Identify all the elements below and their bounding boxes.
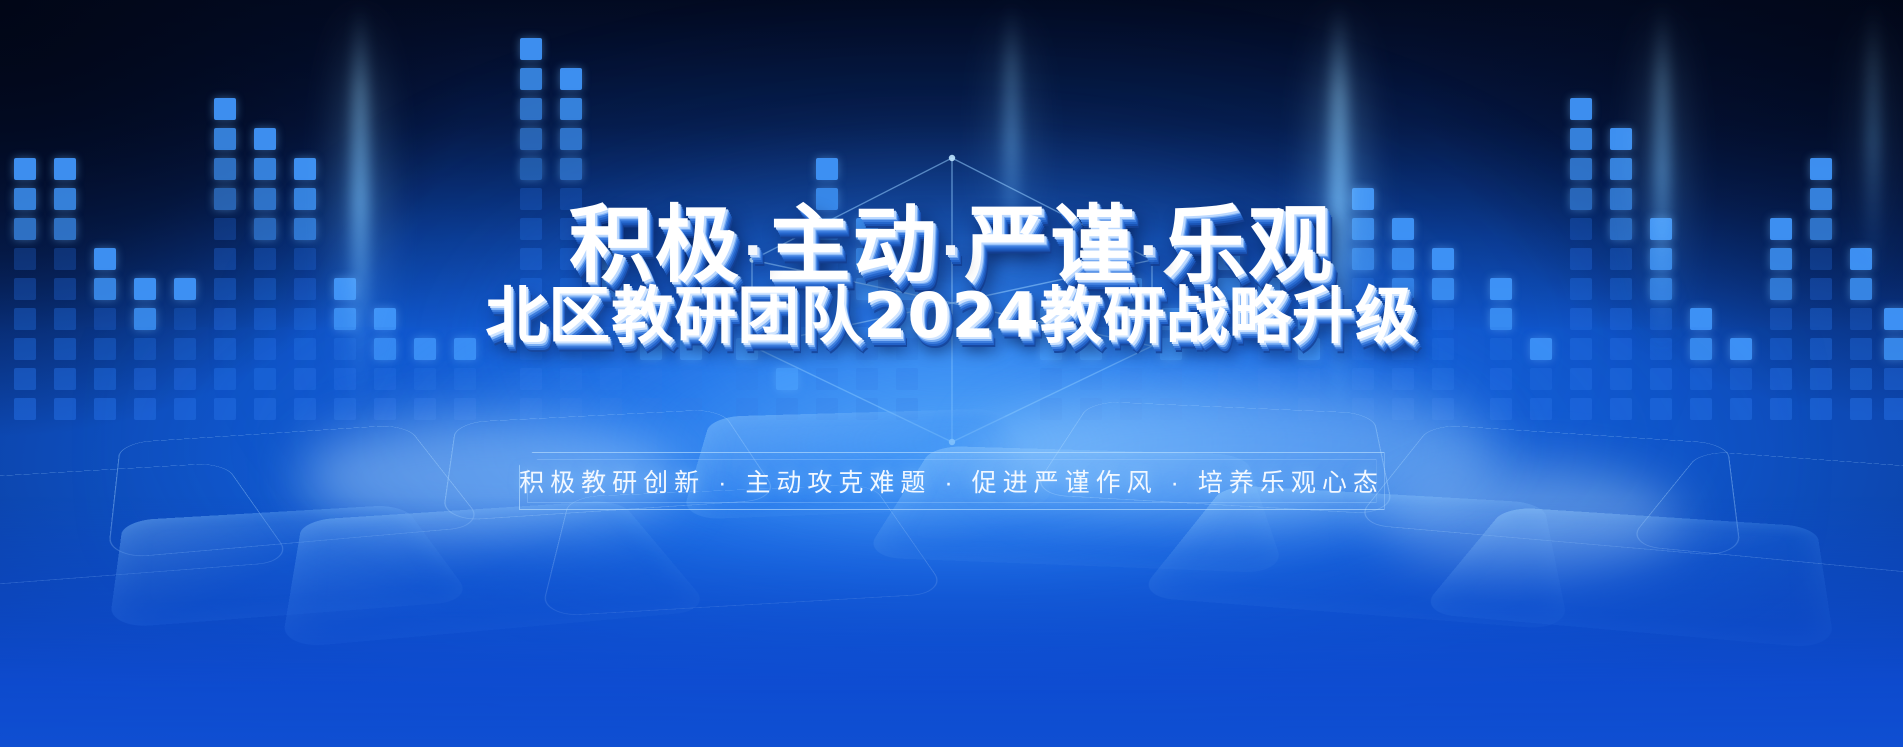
page-subtitle: 北区教研团队2024教研战略升级 (485, 265, 1418, 355)
tagline-text: 积极教研创新 · 主动攻克难题 · 促进严谨作风 · 培养乐观心态 (519, 452, 1385, 510)
banner-content: 积极·主动·严谨·乐观 北区教研团队2024教研战略升级 积极教研创新 · 主动… (0, 0, 1903, 747)
banner-root: 积极·主动·严谨·乐观 北区教研团队2024教研战略升级 积极教研创新 · 主动… (0, 0, 1903, 747)
tagline-frame: 积极教研创新 · 主动攻克难题 · 促进严谨作风 · 培养乐观心态 (519, 452, 1385, 510)
